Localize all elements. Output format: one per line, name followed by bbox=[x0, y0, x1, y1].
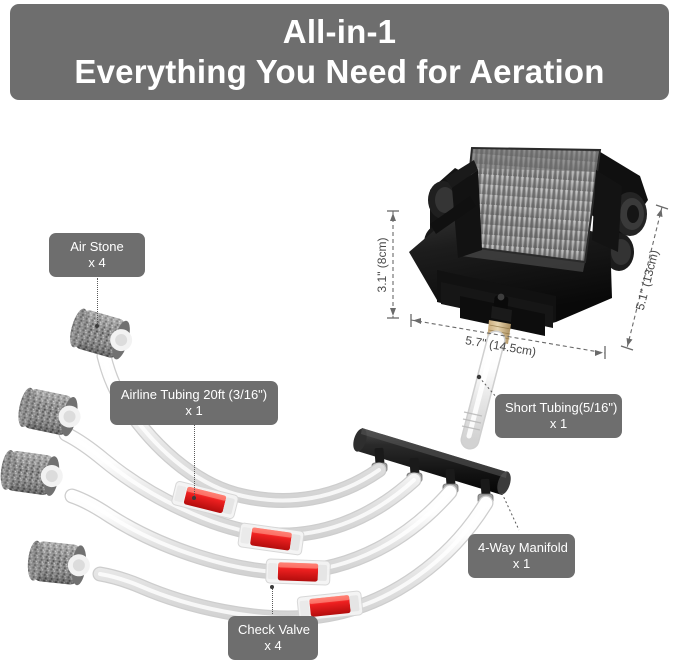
callout-manifold[interactable]: 4-Way Manifold x 1 bbox=[468, 534, 575, 578]
callout-air-stone-title: Air Stone bbox=[59, 239, 135, 255]
callout-check-valve-qty: x 4 bbox=[238, 638, 308, 654]
callout-air-stone-qty: x 4 bbox=[59, 255, 135, 271]
callout-airline-tubing[interactable]: Airline Tubing 20ft (3/16") x 1 bbox=[110, 381, 278, 425]
callout-short-tubing-qty: x 1 bbox=[505, 416, 612, 432]
callout-air-stone[interactable]: Air Stone x 4 bbox=[49, 233, 145, 277]
callout-manifold-title: 4-Way Manifold bbox=[478, 540, 565, 556]
callout-airline-tubing-qty: x 1 bbox=[120, 403, 268, 419]
callout-short-tubing-title: Short Tubing(5/16") bbox=[505, 400, 612, 416]
callout-short-tubing[interactable]: Short Tubing(5/16") x 1 bbox=[495, 394, 622, 438]
callout-airline-tubing-title: Airline Tubing 20ft (3/16") bbox=[120, 387, 268, 403]
callout-check-valve-title: Check Valve bbox=[238, 622, 308, 638]
product-infographic: All-in-1 Everything You Need for Aeratio… bbox=[0, 0, 679, 664]
callout-manifold-qty: x 1 bbox=[478, 556, 565, 572]
slanted-leader-lines bbox=[0, 0, 679, 664]
callout-check-valve[interactable]: Check Valve x 4 bbox=[228, 616, 318, 660]
